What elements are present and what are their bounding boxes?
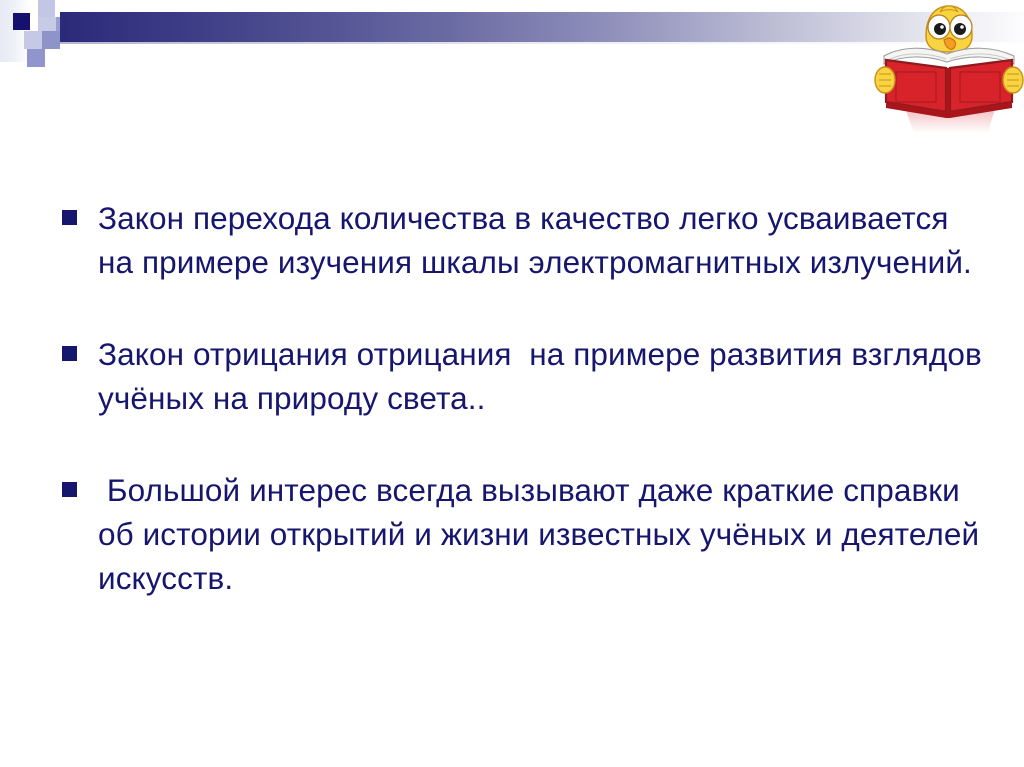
bullet-item-3: Большой интерес всегда вызывают даже кра… [62, 468, 982, 600]
slide-body: Закон перехода количества в качество лег… [62, 196, 982, 600]
square-bullet-icon [62, 482, 77, 497]
square-bullet-icon [62, 346, 77, 361]
square-dark-navy [13, 13, 30, 30]
square-pale-left [24, 31, 42, 49]
bullet-text-2: Закон отрицания отрицания на примере раз… [98, 332, 982, 420]
square-mid-right [42, 31, 60, 49]
bullet-item-2: Закон отрицания отрицания на примере раз… [62, 332, 982, 420]
square-bullet-icon [62, 210, 77, 225]
bullet-item-1: Закон перехода количества в качество лег… [62, 196, 982, 284]
square-light-upper [38, 0, 55, 17]
square-light-mid [38, 17, 56, 35]
header-decoration [0, 0, 1024, 150]
decor-wash [0, 0, 30, 62]
book-cover [886, 60, 1012, 118]
square-periwinkle [27, 49, 45, 67]
bullet-text-3: Большой интерес всегда вызывают даже кра… [98, 468, 982, 600]
bullet-text-1: Закон перехода количества в качество лег… [98, 196, 982, 284]
bird-reading-book-icon [874, 2, 1024, 137]
presentation-slide: Закон перехода количества в качество лег… [0, 0, 1024, 767]
square-mid-blue [56, 17, 74, 35]
bird-head [926, 6, 972, 52]
